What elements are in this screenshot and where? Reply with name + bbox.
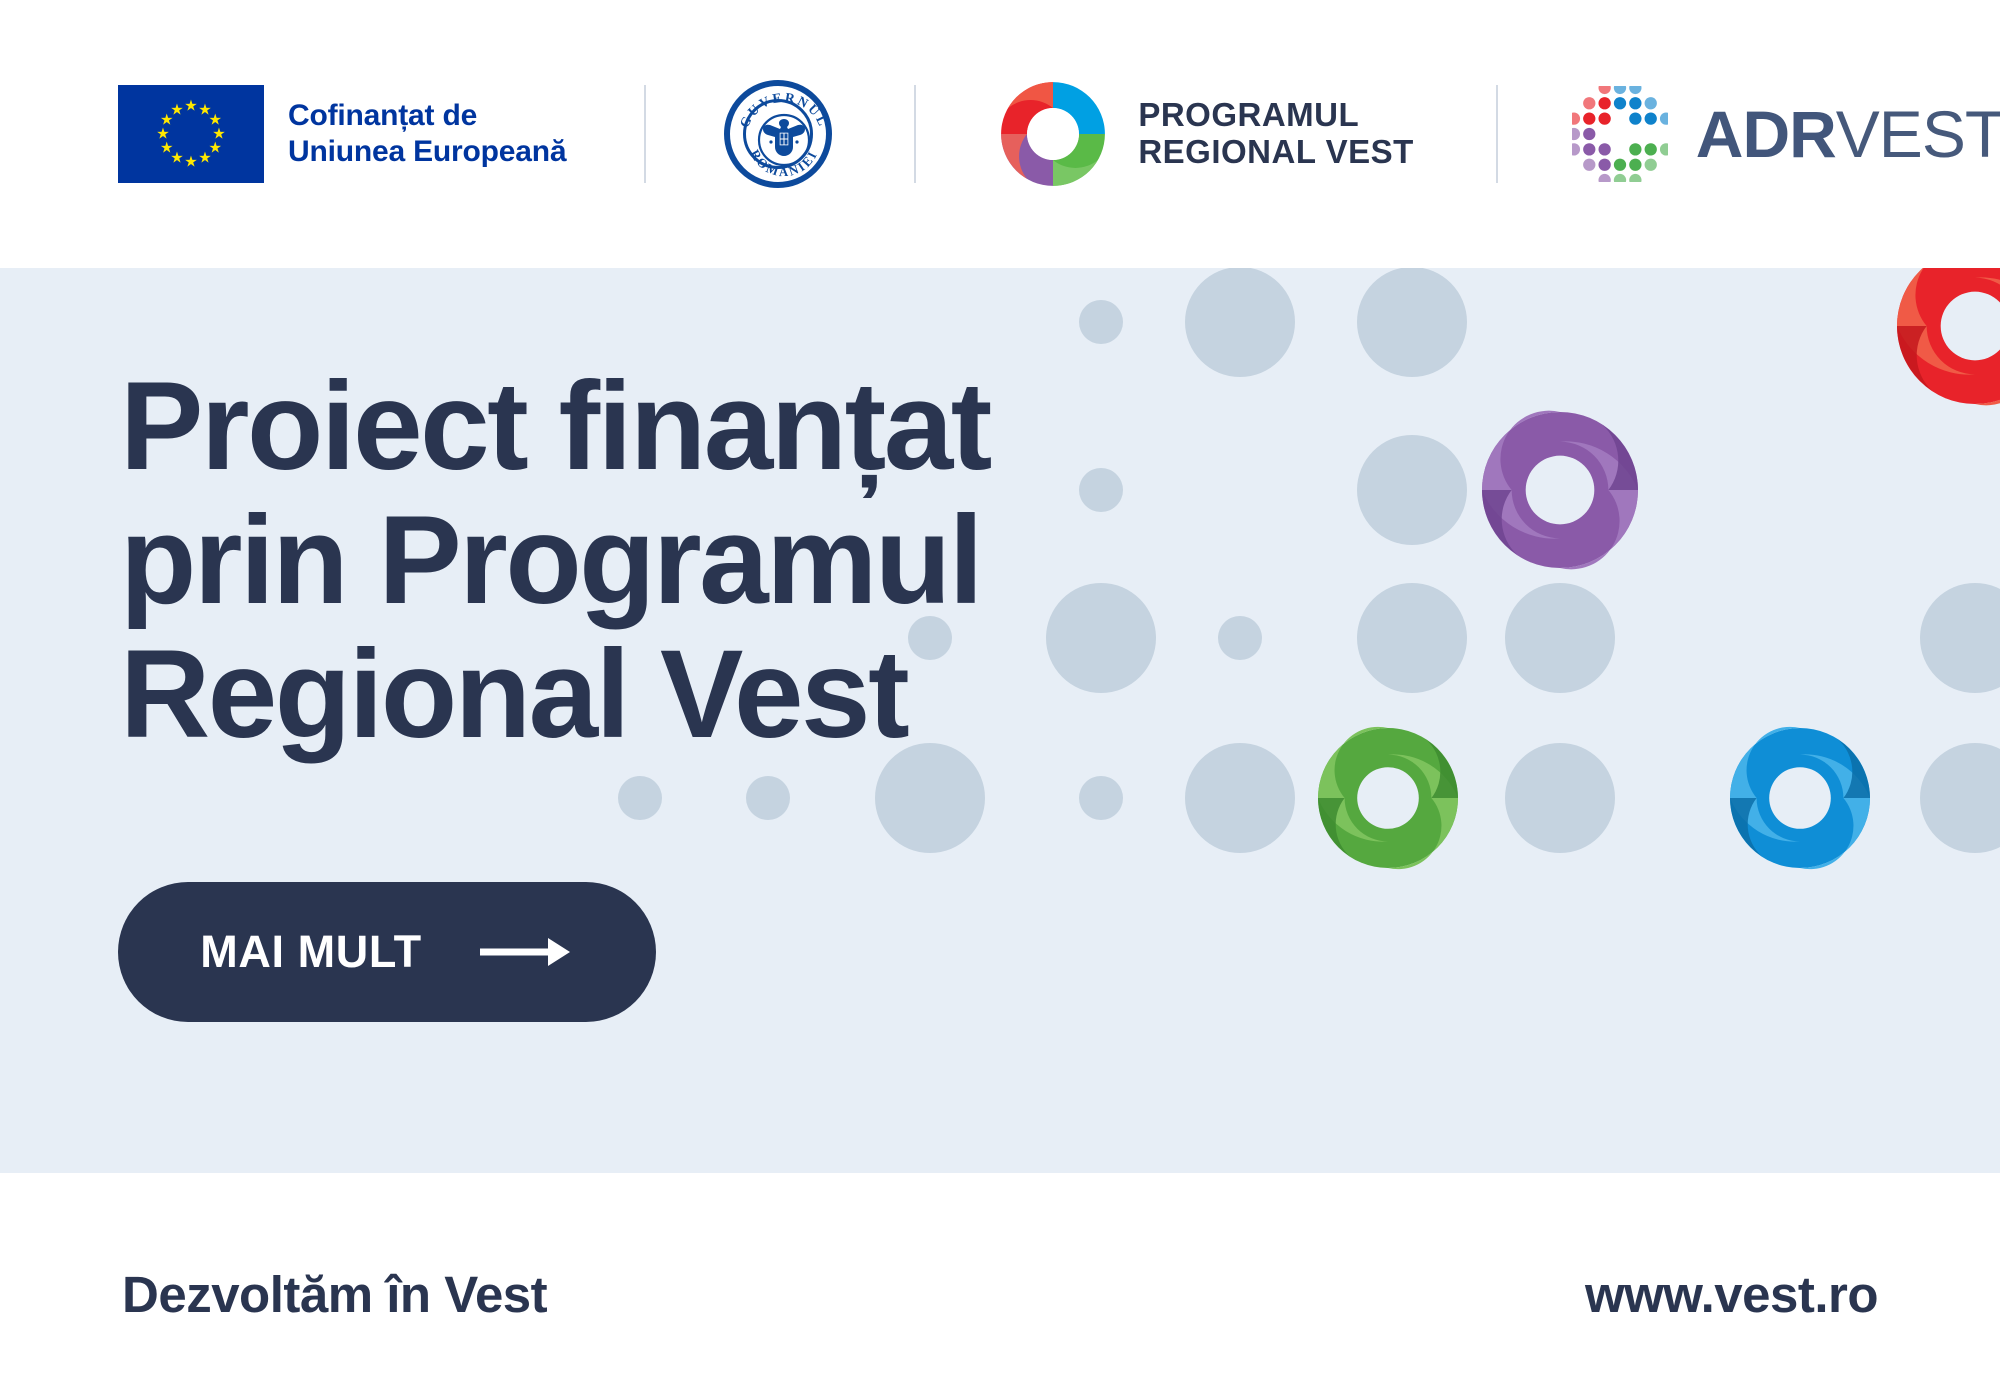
eu-cofinancing-logo: ★★★★★★★★★★★★ Cofinanțat de Uniunea Europ… xyxy=(118,59,566,209)
eu-star-1: ★ xyxy=(184,99,197,114)
page-title: Proiect finanțat prin Programul Regional… xyxy=(120,360,990,761)
decorative-dot xyxy=(1920,743,2000,853)
decorative-dot xyxy=(1357,583,1467,693)
decorative-dot xyxy=(1357,435,1467,545)
hero-banner: Proiect finanțat prin Programul Regional… xyxy=(0,268,2000,1173)
adrvest-logo: ADRVEST xyxy=(1572,59,2000,209)
eu-text-line2: Uniunea Europeană xyxy=(288,134,566,170)
decorative-dot xyxy=(1079,468,1123,512)
decorative-dot xyxy=(1046,583,1156,693)
decorative-dot xyxy=(1505,743,1615,853)
prv-line2-regular: REGIONAL xyxy=(1138,133,1325,170)
adrvest-thin-part: VEST xyxy=(1836,97,2000,171)
eu-star-10: ★ xyxy=(156,127,169,142)
romanian-coat-of-arms-icon: GUVERNUL ROMÂNIEI xyxy=(724,80,832,188)
eu-cofinancing-text: Cofinanțat de Uniunea Europeană xyxy=(288,98,566,170)
eu-star-12: ★ xyxy=(170,102,183,117)
decorative-dot xyxy=(1185,268,1295,377)
mai-mult-button-label: MAI MULT xyxy=(200,926,421,978)
decorative-dot xyxy=(1185,743,1295,853)
mai-mult-button[interactable]: MAI MULT xyxy=(118,882,656,1022)
prv-line2-bold: VEST xyxy=(1326,133,1414,170)
romanian-government-logo: GUVERNUL ROMÂNIEI xyxy=(724,59,832,209)
prv-swirl-icon xyxy=(994,75,1112,193)
eu-star-9: ★ xyxy=(160,141,173,156)
decorative-dot xyxy=(1920,583,2000,693)
decorative-dot xyxy=(746,776,790,820)
eu-star-7: ★ xyxy=(184,155,197,170)
decorative-dot xyxy=(618,776,662,820)
red-ring xyxy=(1897,268,2000,405)
decorative-dot xyxy=(1079,300,1123,344)
prv-line2: REGIONAL VEST xyxy=(1138,134,1413,171)
logo-divider-2 xyxy=(914,85,916,183)
decorative-dot xyxy=(1357,268,1467,377)
footer-website-link[interactable]: www.vest.ro xyxy=(1585,1265,1878,1324)
prv-line1: PROGRAMUL xyxy=(1138,97,1413,134)
footer-tagline: Dezvoltăm în Vest xyxy=(122,1265,547,1324)
adrvest-dot-matrix-icon xyxy=(1572,86,1668,182)
logo-strip: ★★★★★★★★★★★★ Cofinanțat de Uniunea Europ… xyxy=(0,54,2000,214)
eu-text-line1: Cofinanțat de xyxy=(288,98,566,134)
decorative-dot xyxy=(1218,616,1262,660)
logo-divider-3 xyxy=(1496,85,1498,183)
logo-divider-1 xyxy=(644,85,646,183)
green-ring xyxy=(1318,727,1458,869)
programul-regional-vest-logo: PROGRAMUL REGIONAL VEST xyxy=(994,59,1413,209)
arrow-right-icon xyxy=(478,932,574,972)
purple-ring xyxy=(1482,411,1638,570)
decorative-dot xyxy=(1079,776,1123,820)
prv-wordmark: PROGRAMUL REGIONAL VEST xyxy=(1138,97,1413,171)
eu-star-6: ★ xyxy=(198,151,211,166)
eu-flag-icon: ★★★★★★★★★★★★ xyxy=(118,85,264,183)
adrvest-bold-part: ADR xyxy=(1696,97,1836,171)
adrvest-wordmark: ADRVEST xyxy=(1696,101,2000,167)
blue-ring xyxy=(1730,727,1870,869)
footer-bar: Dezvoltăm în Vest www.vest.ro xyxy=(0,1173,2000,1400)
header-logo-bar: ★★★★★★★★★★★★ Cofinanțat de Uniunea Europ… xyxy=(0,0,2000,268)
decorative-dot xyxy=(1505,583,1615,693)
